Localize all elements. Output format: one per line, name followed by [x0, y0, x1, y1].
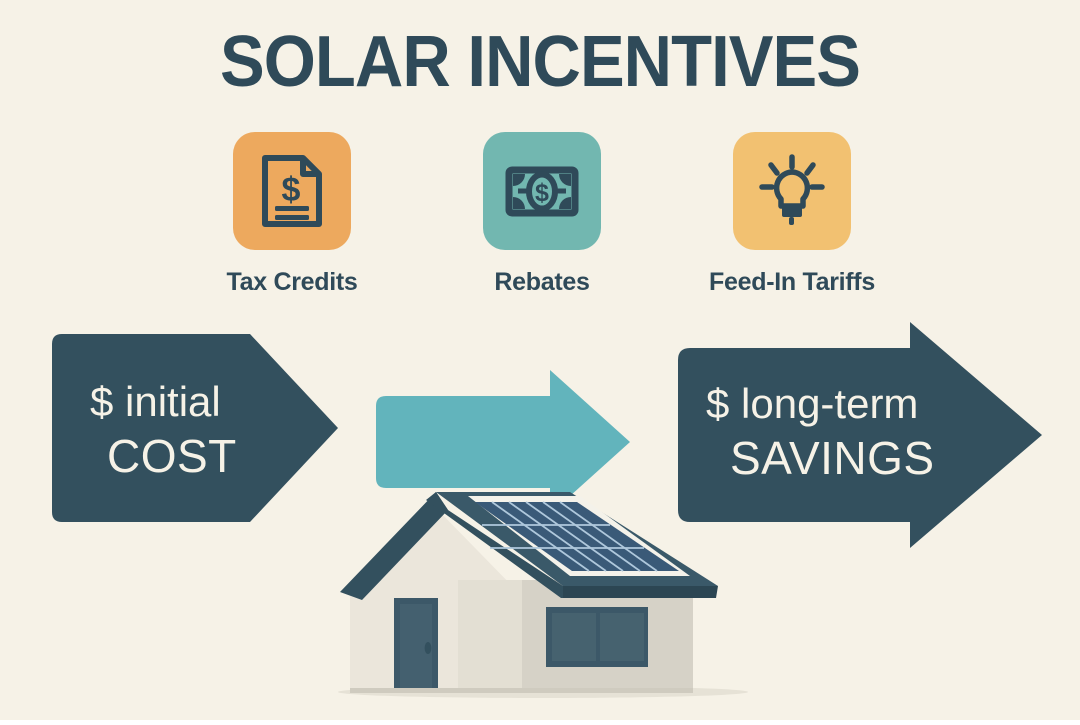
feed-in-tariffs-icon-tile	[733, 132, 851, 250]
long-term-savings-line1: $ long-term	[706, 380, 918, 428]
incentive-item-tax-credits[interactable]: $ Tax Credits	[192, 132, 392, 296]
door-handle[interactable]	[425, 642, 432, 654]
house-with-solar-panel	[318, 470, 768, 720]
rebates-icon-tile: $	[483, 132, 601, 250]
wall-seam	[458, 580, 522, 692]
house-baseline	[350, 688, 693, 693]
house-illustration	[318, 470, 768, 720]
window-pane-right	[600, 613, 644, 661]
initial-cost-arrow	[42, 330, 342, 526]
lightbulb-plug-icon	[751, 150, 833, 232]
incentives-icon-row: $ Tax Credits $	[192, 132, 892, 296]
tax-credits-icon-tile: $	[233, 132, 351, 250]
incentive-label: Tax Credits	[226, 268, 357, 296]
svg-text:$: $	[535, 179, 549, 207]
incentive-label: Feed-In Tariffs	[709, 268, 875, 296]
incentive-label: Rebates	[494, 268, 589, 296]
svg-text:$: $	[282, 171, 301, 209]
banknote-dollar-icon: $	[501, 150, 583, 232]
solar-incentives-poster: SOLAR INCENTIVES $ Tax Credits	[0, 0, 1080, 720]
incentive-item-feed-in-tariffs[interactable]: Feed-In Tariffs	[692, 132, 892, 296]
initial-cost-line1: $ initial	[90, 378, 221, 426]
incentive-item-rebates[interactable]: $ Rebates	[442, 132, 642, 296]
window-pane-left	[552, 613, 596, 661]
page-title: SOLAR INCENTIVES	[38, 22, 1042, 102]
initial-cost-arrow-shape	[42, 330, 342, 526]
initial-cost-line2: COST	[107, 430, 237, 482]
document-dollar-icon: $	[251, 150, 333, 232]
roof-eave	[561, 586, 718, 598]
